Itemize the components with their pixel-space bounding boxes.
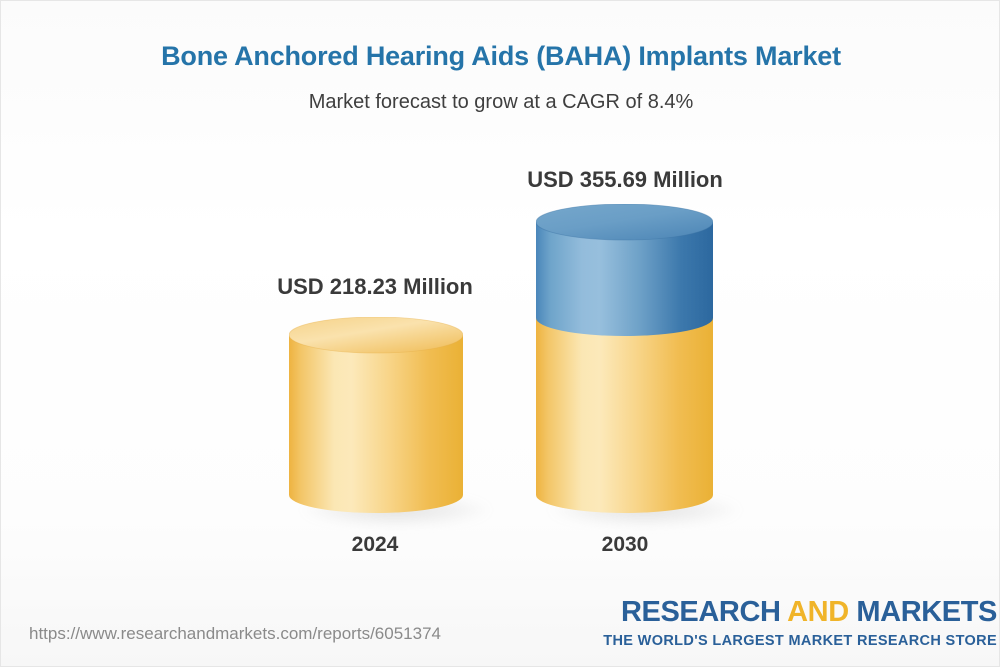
logo-word-markets: MARKETS [849,596,997,628]
data-label-2024: USD 218.23 Million [265,274,485,300]
chart-canvas: Bone Anchored Hearing Aids (BAHA) Implan… [0,0,1000,667]
report-url[interactable]: https://www.researchandmarkets.com/repor… [29,624,441,644]
data-label-2030: USD 355.69 Million [514,167,736,193]
bar-cylinder-2024[interactable] [289,317,463,513]
logo-word-research: RESEARCH [621,596,787,628]
bar-cylinder-2030-svg [536,204,713,513]
research-and-markets-logo[interactable]: RESEARCH AND MARKETS THE WORLD'S LARGEST… [603,598,997,649]
bar-cylinder-2024-svg [289,317,463,513]
category-label-2030: 2030 [545,533,705,557]
bar-cylinder-2030[interactable] [536,204,713,513]
logo-tagline: THE WORLD'S LARGEST MARKET RESEARCH STOR… [603,634,997,649]
logo-wordmark: RESEARCH AND MARKETS [603,598,997,627]
logo-word-and: AND [787,596,849,628]
category-label-2024: 2024 [295,533,455,557]
plot-area: USD 218.23 Million [1,1,1000,601]
